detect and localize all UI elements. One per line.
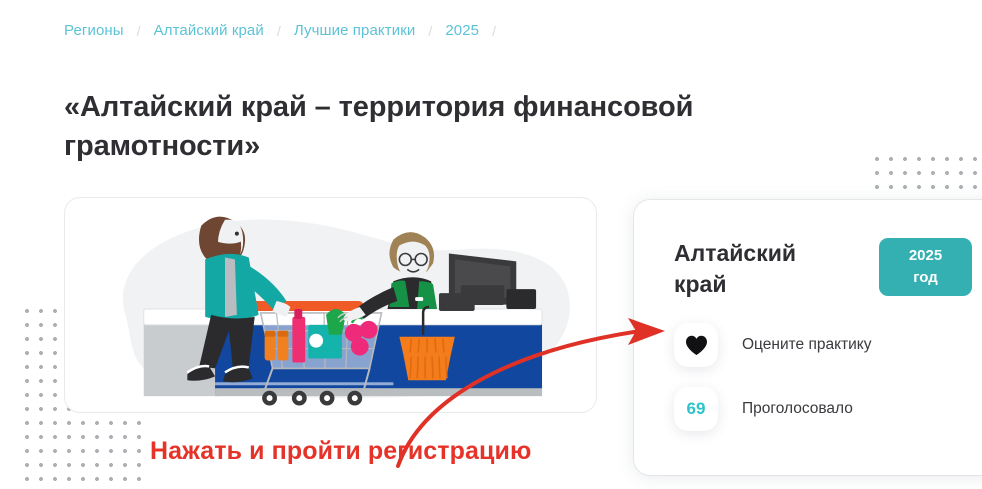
breadcrumb-item-altai[interactable]: Алтайский край [154, 22, 264, 39]
breadcrumb-item-year[interactable]: 2025 [445, 22, 479, 39]
practice-card: Алтайский край 2025 год Оцените практику… [634, 200, 982, 475]
breadcrumb-separator: / [277, 23, 281, 39]
breadcrumb-item-regions[interactable]: Регионы [64, 22, 124, 39]
practice-illustration-card [64, 197, 597, 413]
breadcrumb: Регионы / Алтайский край / Лучшие практи… [64, 22, 509, 39]
practice-card-header: Алтайский край 2025 год [634, 200, 982, 299]
year-badge-unit: год [913, 267, 938, 290]
annotation-text: Нажать и пройти регистрацию [150, 437, 531, 466]
votes-count-tile: 69 [674, 387, 718, 431]
practice-card-stats: Оцените практику 69 Проголосовало [634, 299, 982, 431]
region-title: Алтайский край [674, 238, 844, 299]
heart-icon [685, 335, 708, 356]
page-root: Регионы / Алтайский край / Лучшие практи… [0, 0, 982, 489]
votes-count: 69 [687, 399, 706, 419]
votes-label: Проголосовало [742, 400, 853, 418]
dot-grid-top-right [868, 150, 982, 196]
rate-practice-label: Оцените практику [742, 336, 872, 354]
page-title: «Алтайский край – территория финансовой … [64, 88, 764, 167]
votes-row: 69 Проголосовало [674, 387, 982, 431]
supermarket-illustration [65, 198, 596, 412]
year-badge-value: 2025 [909, 245, 942, 268]
year-badge: 2025 год [879, 238, 972, 296]
breadcrumb-separator: / [137, 23, 141, 39]
rate-practice-row[interactable]: Оцените практику [674, 323, 982, 367]
breadcrumb-item-practices[interactable]: Лучшие практики [294, 22, 415, 39]
breadcrumb-separator: / [492, 23, 496, 39]
like-button[interactable] [674, 323, 718, 367]
breadcrumb-separator: / [428, 23, 432, 39]
